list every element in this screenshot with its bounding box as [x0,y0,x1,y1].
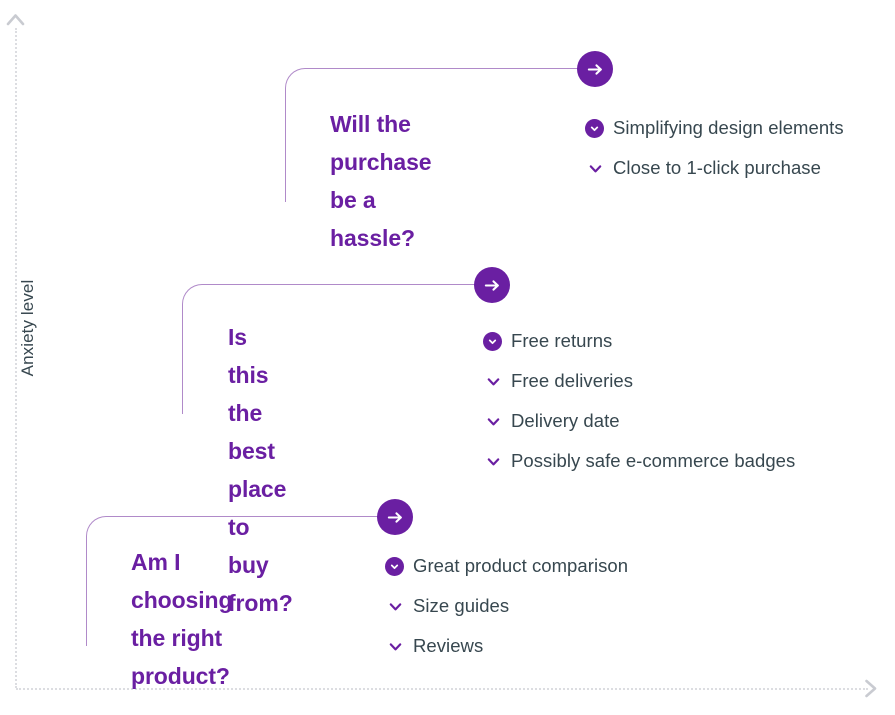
chevron-down-circle-icon [585,119,604,138]
list-item[interactable]: Free returns [482,321,795,361]
anxiety-level-diagram: Anxiety level Will the purchase be a has… [0,0,895,715]
list-item[interactable]: Free deliveries [482,361,795,401]
list-item-label: Great product comparison [413,555,628,577]
list-item-label: Simplifying design elements [613,117,844,139]
list-item-label: Size guides [413,595,509,617]
stage-heading: Is this the best place to buy from? [228,318,293,622]
arrow-right-icon [386,508,405,527]
list-item[interactable]: Size guides [384,586,628,626]
chevron-down-icon [482,370,504,392]
list-item-label: Free deliveries [511,370,633,392]
stage-item-list: Simplifying design elements Close to 1-c… [584,108,844,188]
stage-item-list: Free returns Free deliveries Delivery da… [482,321,795,481]
arrow-right-icon [483,276,502,295]
chevron-down-icon [482,410,504,432]
chevron-down-circle-icon [483,332,502,351]
chevron-down-icon [584,157,606,179]
list-item-label: Reviews [413,635,483,657]
list-item[interactable]: Simplifying design elements [584,108,844,148]
chevron-down-icon [384,635,406,657]
stage-heading: Will the purchase be a hassle? [330,105,431,257]
arrow-right-icon [586,60,605,79]
list-item[interactable]: Reviews [384,626,628,666]
stage-arrow-button[interactable] [474,267,510,303]
chevron-down-circle-icon [385,557,404,576]
chevron-down-icon [482,450,504,472]
list-item-label: Possibly safe e-commerce badges [511,450,795,472]
list-item[interactable]: Possibly safe e-commerce badges [482,441,795,481]
list-item-label: Free returns [511,330,612,352]
list-item[interactable]: Great product comparison [384,546,628,586]
y-axis-label: Anxiety level [18,268,38,388]
chevron-right-icon [864,679,878,698]
chevron-down-icon [384,595,406,617]
list-item-label: Close to 1-click purchase [613,157,821,179]
list-item-label: Delivery date [511,410,620,432]
chevron-up-icon [6,12,25,26]
list-item[interactable]: Close to 1-click purchase [584,148,844,188]
stage-arrow-button[interactable] [377,499,413,535]
stage-arrow-button[interactable] [577,51,613,87]
y-axis-line [15,28,17,688]
stage-item-list: Great product comparison Size guides Rev… [384,546,628,666]
list-item[interactable]: Delivery date [482,401,795,441]
stage-heading: Am I choosing the right product? [131,543,232,695]
